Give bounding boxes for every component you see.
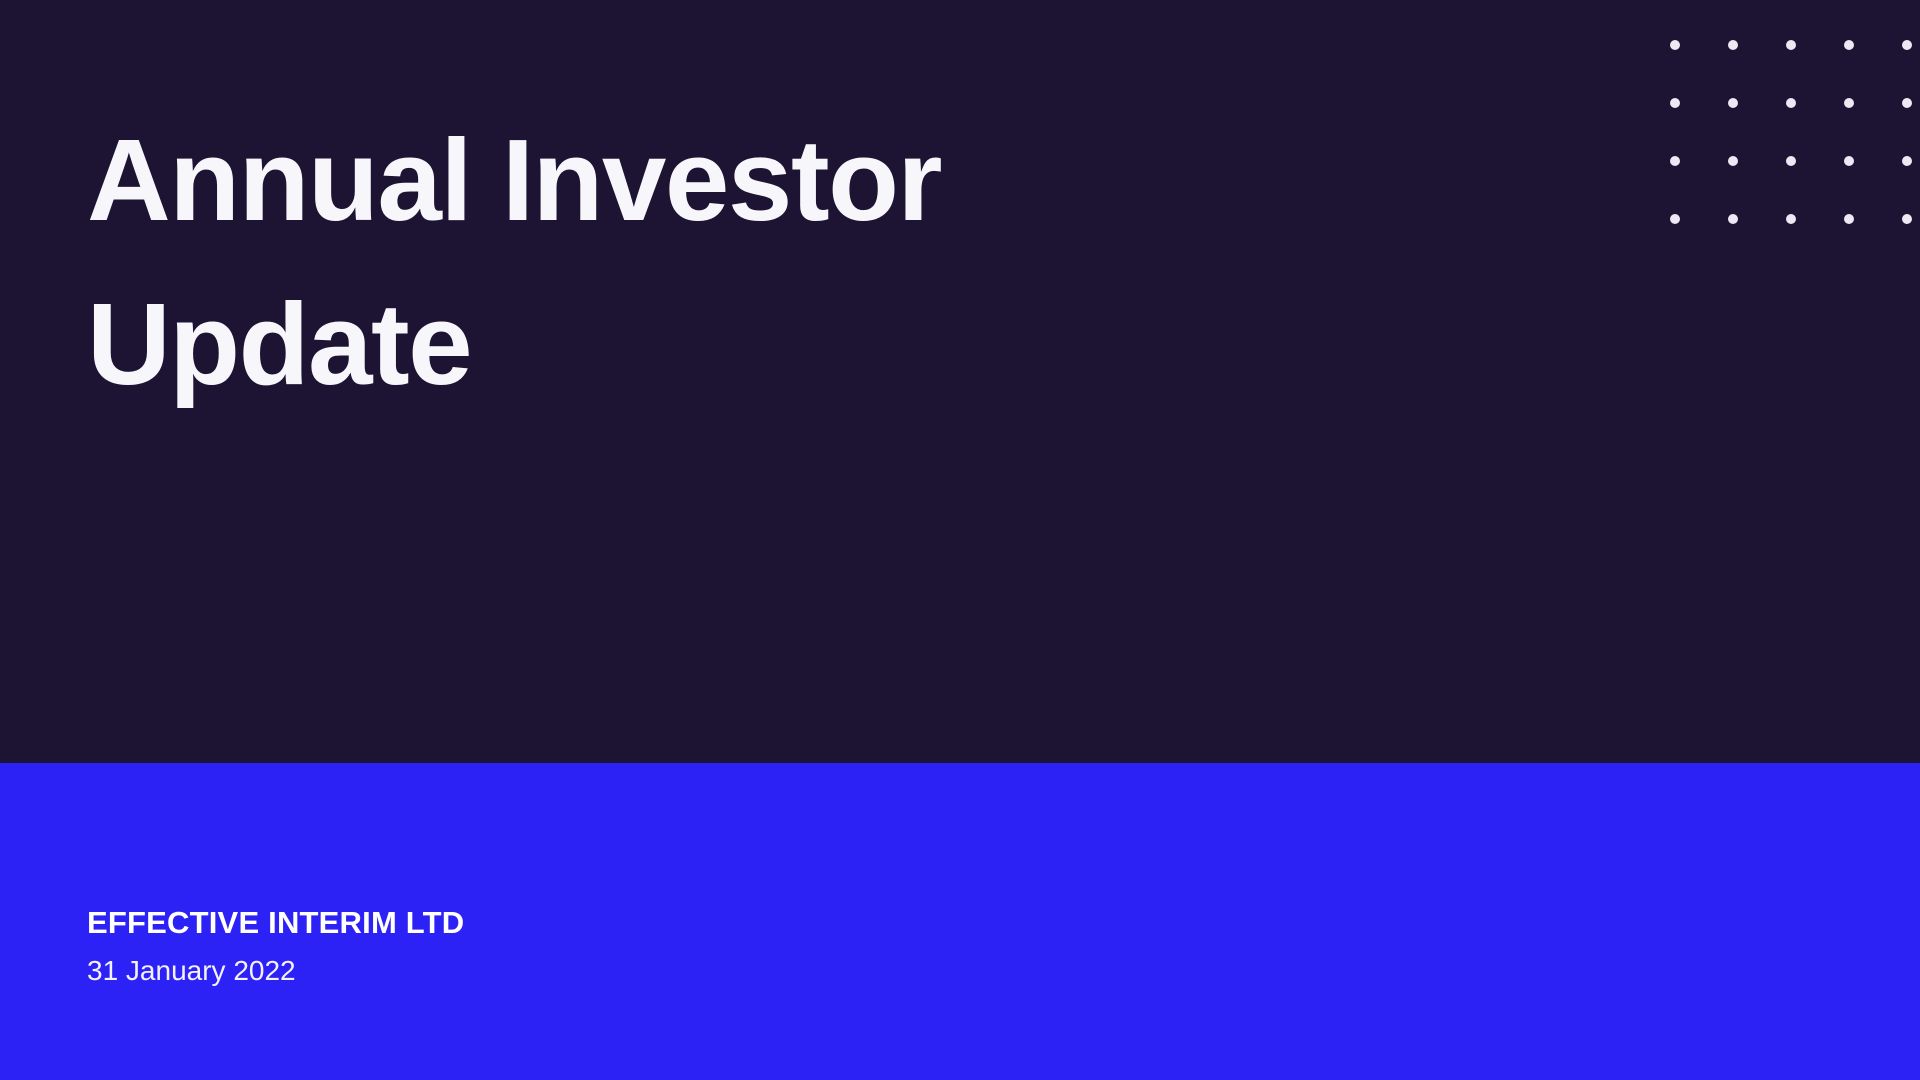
dot-icon bbox=[1728, 40, 1738, 50]
dot-grid-decoration bbox=[1670, 0, 1920, 234]
dot-icon bbox=[1786, 214, 1796, 224]
dot-icon bbox=[1728, 156, 1738, 166]
title-slide: Annual Investor Update EFFECTIVE INTERIM… bbox=[0, 0, 1920, 1080]
footer-band: EFFECTIVE INTERIM LTD 31 January 2022 bbox=[0, 763, 1920, 1080]
dot-icon bbox=[1670, 214, 1680, 224]
dot-icon bbox=[1844, 40, 1854, 50]
organisation-name: EFFECTIVE INTERIM LTD bbox=[87, 903, 464, 943]
page-title: Annual Investor Update bbox=[87, 98, 1187, 426]
dot-icon bbox=[1844, 214, 1854, 224]
dot-icon bbox=[1902, 156, 1912, 166]
dot-icon bbox=[1786, 156, 1796, 166]
dot-icon bbox=[1902, 214, 1912, 224]
dot-icon bbox=[1670, 40, 1680, 50]
dot-icon bbox=[1844, 156, 1854, 166]
dot-icon bbox=[1728, 98, 1738, 108]
dot-icon bbox=[1902, 40, 1912, 50]
dot-icon bbox=[1786, 40, 1796, 50]
slide-date: 31 January 2022 bbox=[87, 953, 464, 989]
dot-icon bbox=[1670, 156, 1680, 166]
dot-icon bbox=[1728, 214, 1738, 224]
dot-icon bbox=[1670, 98, 1680, 108]
footer-content: EFFECTIVE INTERIM LTD 31 January 2022 bbox=[87, 903, 464, 989]
hero-panel: Annual Investor Update bbox=[0, 0, 1920, 763]
dot-icon bbox=[1786, 98, 1796, 108]
dot-icon bbox=[1844, 98, 1854, 108]
dot-icon bbox=[1902, 98, 1912, 108]
